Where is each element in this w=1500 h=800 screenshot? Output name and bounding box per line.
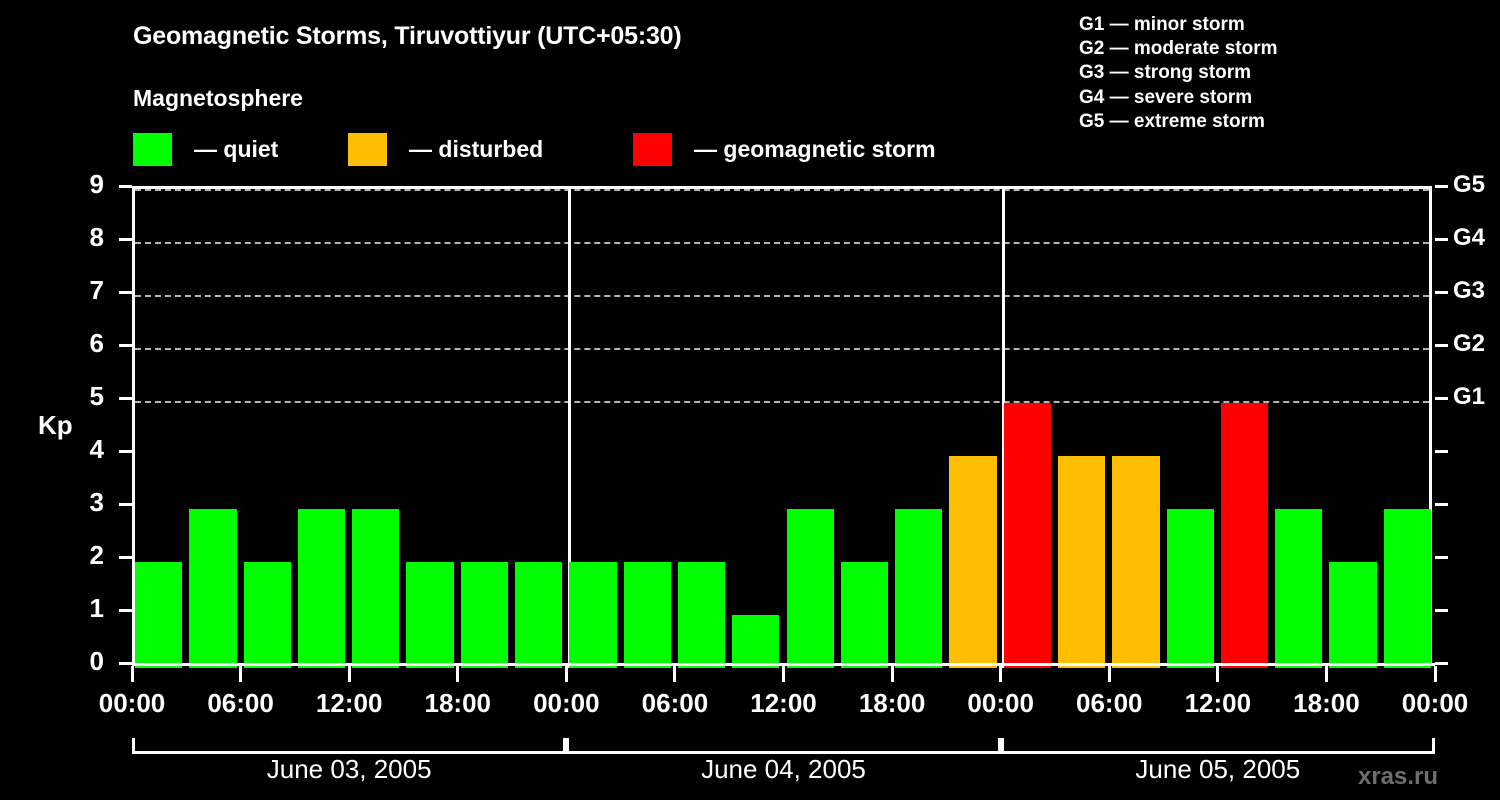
x-tick-label-7: 18:00: [832, 688, 952, 719]
x-tick-label-10: 12:00: [1158, 688, 1278, 719]
y-tick-right-6: [1435, 344, 1448, 347]
bar: [1329, 562, 1376, 668]
bar: [895, 509, 942, 668]
g-axis-label-G4: G4: [1453, 224, 1485, 252]
legend-item-1: — disturbed: [348, 133, 543, 166]
chart-subtitle: Magnetosphere: [133, 85, 303, 112]
g-scale-line-1: G1 — minor storm: [1079, 13, 1278, 37]
g-scale-legend: G1 — minor stormG2 — moderate stormG3 — …: [1079, 13, 1278, 134]
g-axis-label-G3: G3: [1453, 277, 1485, 305]
y-tick-label-5: 5: [64, 381, 104, 412]
legend-item-label: — geomagnetic storm: [694, 136, 936, 163]
quiet-swatch: [133, 133, 172, 166]
day-label-2: June 04, 2005: [566, 754, 1000, 785]
day-bracket-2: [566, 738, 1000, 754]
x-tick-3: [456, 666, 459, 682]
x-tick-label-11: 18:00: [1266, 688, 1386, 719]
y-tick-left-9: [119, 185, 132, 188]
bar: [1384, 509, 1431, 668]
bar: [406, 562, 453, 668]
y-tick-left-5: [119, 397, 132, 400]
g-scale-line-3: G3 — strong storm: [1079, 61, 1278, 85]
y-tick-label-7: 7: [64, 275, 104, 306]
x-tick-9: [1108, 666, 1111, 682]
y-tick-label-1: 1: [64, 593, 104, 624]
y-tick-left-4: [119, 450, 132, 453]
bar: [949, 456, 996, 668]
y-tick-right-5: [1435, 397, 1448, 400]
legend-item-label: — quiet: [194, 136, 278, 163]
bar: [678, 562, 725, 668]
bar: [244, 562, 291, 668]
y-tick-right-8: [1435, 238, 1448, 241]
bar: [1112, 456, 1159, 668]
x-tick-1: [239, 666, 242, 682]
g-scale-line-4: G4 — severe storm: [1079, 86, 1278, 110]
x-tick-5: [673, 666, 676, 682]
g-axis-label-G2: G2: [1453, 330, 1485, 358]
disturbed-swatch: [348, 133, 387, 166]
bar: [189, 509, 236, 668]
x-tick-11: [1325, 666, 1328, 682]
x-tick-label-9: 06:00: [1049, 688, 1169, 719]
x-tick-label-5: 06:00: [615, 688, 735, 719]
gridline-kp-9: [135, 189, 1429, 191]
y-tick-left-1: [119, 609, 132, 612]
y-tick-label-4: 4: [64, 434, 104, 465]
gridline-kp-6: [135, 348, 1429, 350]
bar: [298, 509, 345, 668]
x-tick-label-4: 00:00: [506, 688, 626, 719]
y-tick-left-7: [119, 291, 132, 294]
g-scale-line-5: G5 — extreme storm: [1079, 110, 1278, 134]
bar: [461, 562, 508, 668]
page-title: Geomagnetic Storms, Tiruvottiyur (UTC+05…: [133, 22, 682, 51]
y-tick-right-3: [1435, 503, 1448, 506]
bar: [1058, 456, 1105, 668]
g-axis-label-G1: G1: [1453, 383, 1485, 411]
x-tick-label-8: 00:00: [941, 688, 1061, 719]
x-tick-7: [891, 666, 894, 682]
x-tick-label-3: 18:00: [398, 688, 518, 719]
y-tick-label-2: 2: [64, 540, 104, 571]
x-tick-12: [1434, 666, 1437, 682]
plot-area: [132, 186, 1432, 665]
x-tick-2: [348, 666, 351, 682]
y-tick-left-2: [119, 556, 132, 559]
bar: [515, 562, 562, 668]
bar: [569, 562, 616, 668]
bar: [1275, 509, 1322, 668]
bar: [787, 509, 834, 668]
bar: [135, 562, 182, 668]
x-tick-6: [782, 666, 785, 682]
y-tick-right-0: [1435, 662, 1448, 665]
bar: [1167, 509, 1214, 668]
y-tick-left-3: [119, 503, 132, 506]
day-bracket-1: [132, 738, 566, 754]
day-bracket-3: [1001, 738, 1435, 754]
gridline-kp-7: [135, 295, 1429, 297]
x-tick-label-12: 00:00: [1375, 688, 1495, 719]
watermark: xras.ru: [1358, 763, 1438, 791]
x-tick-label-1: 06:00: [181, 688, 301, 719]
y-tick-right-2: [1435, 556, 1448, 559]
bar: [841, 562, 888, 668]
y-tick-label-6: 6: [64, 328, 104, 359]
y-tick-left-0: [119, 662, 132, 665]
y-tick-left-6: [119, 344, 132, 347]
bar: [624, 562, 671, 668]
y-tick-right-9: [1435, 185, 1448, 188]
x-tick-label-2: 12:00: [289, 688, 409, 719]
y-tick-right-4: [1435, 450, 1448, 453]
gridline-kp-8: [135, 242, 1429, 244]
x-tick-label-6: 12:00: [724, 688, 844, 719]
legend-item-2: — geomagnetic storm: [633, 133, 936, 166]
y-tick-label-8: 8: [64, 222, 104, 253]
x-tick-4: [565, 666, 568, 682]
bar: [1221, 403, 1268, 668]
x-tick-8: [999, 666, 1002, 682]
chart-root: Geomagnetic Storms, Tiruvottiyur (UTC+05…: [0, 0, 1500, 800]
g-scale-line-2: G2 — moderate storm: [1079, 37, 1278, 61]
y-tick-right-7: [1435, 291, 1448, 294]
y-tick-left-8: [119, 238, 132, 241]
x-tick-label-0: 00:00: [72, 688, 192, 719]
legend-item-0: — quiet: [133, 133, 278, 166]
y-tick-label-9: 9: [64, 169, 104, 200]
bar: [732, 615, 779, 668]
bar: [1004, 403, 1051, 668]
g-axis-label-G5: G5: [1453, 171, 1485, 199]
legend-item-label: — disturbed: [409, 136, 543, 163]
y-tick-label-3: 3: [64, 487, 104, 518]
x-tick-0: [131, 666, 134, 682]
day-label-1: June 03, 2005: [132, 754, 566, 785]
storm-swatch: [633, 133, 672, 166]
bar: [352, 509, 399, 668]
x-tick-10: [1216, 666, 1219, 682]
y-tick-label-0: 0: [64, 646, 104, 677]
y-tick-right-1: [1435, 609, 1448, 612]
